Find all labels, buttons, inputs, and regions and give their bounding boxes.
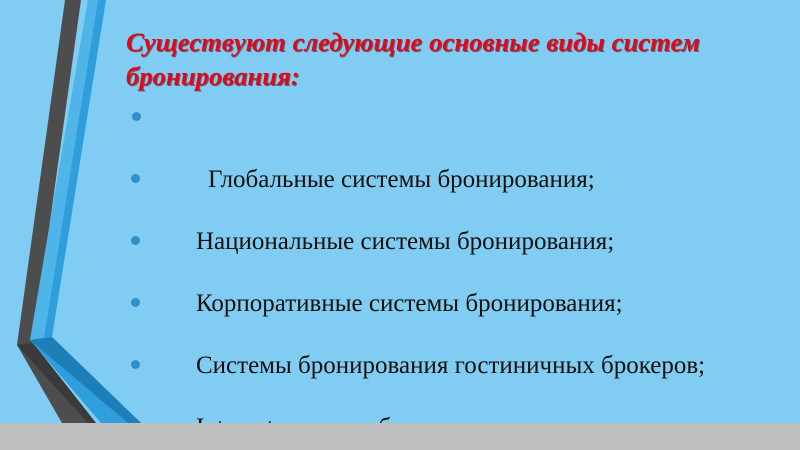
presentation-slide: Существуют следующие основные виды систе… (0, 0, 800, 450)
bullet-dot-icon (131, 298, 140, 307)
list-item: Национальные системы бронирования; (118, 162, 790, 224)
list-item: Корпоративные системы бронирования; (118, 224, 790, 286)
bullet-dot-icon (132, 112, 141, 121)
blue-stripe-highlight (30, 0, 98, 340)
list-item: Системы бронирования гостиничных брокеро… (118, 286, 790, 348)
bullet-dot-icon (131, 174, 140, 183)
bullet-dot-icon (131, 236, 140, 245)
slide-content: Существуют следующие основные виды систе… (118, 0, 790, 450)
gray-stripe-shadow (17, 343, 96, 423)
bullet-dot-icon (131, 360, 140, 369)
slide-title: Существуют следующие основные виды систе… (126, 26, 790, 94)
gray-stripe (17, 0, 96, 423)
list-item: Internet-системы бронирования. (118, 348, 790, 410)
bullet-list: Глобальные системы бронирования; Национа… (118, 100, 790, 410)
list-item: Глобальные системы бронирования; (118, 100, 790, 162)
bottom-gray-bar (0, 423, 800, 450)
